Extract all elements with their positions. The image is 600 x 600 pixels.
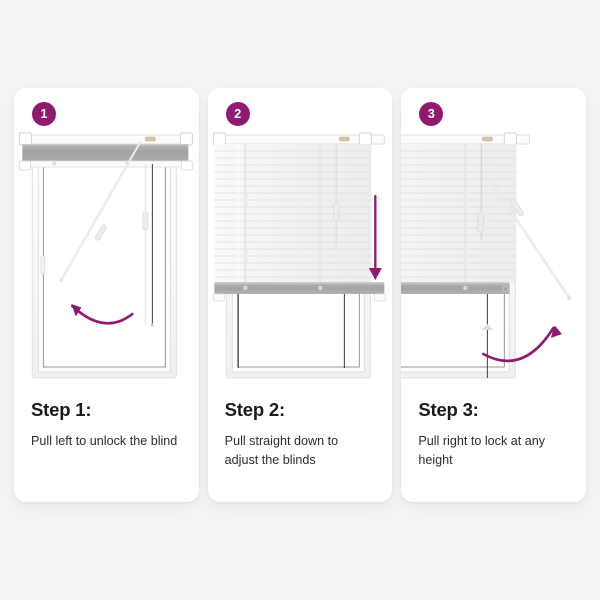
step-title-2: Step 2: (225, 400, 381, 420)
step-title-3: Step 3: (418, 400, 574, 420)
step-card-3[interactable]: 3 (401, 88, 586, 502)
steps-container: 1 (14, 88, 586, 502)
step-description-3: Pull right to lock at any height (418, 432, 568, 469)
illustration-step-1 (14, 128, 199, 388)
window-blind-raised-diagram (14, 128, 199, 388)
caption-step-1: Step 1: Pull left to unlock the blind (31, 400, 187, 451)
step-badge-3: 3 (419, 102, 443, 126)
window-blind-lowered-diagram (208, 128, 393, 388)
step-badge-2: 2 (226, 102, 250, 126)
caption-step-3: Step 3: Pull right to lock at any height (418, 400, 574, 470)
step-description-2: Pull straight down to adjust the blinds (225, 432, 375, 469)
step-badge-1: 1 (32, 102, 56, 126)
window-blind-lock-right-diagram (401, 128, 586, 388)
step-card-2[interactable]: 2 (208, 88, 393, 502)
caption-step-2: Step 2: Pull straight down to adjust the… (225, 400, 381, 470)
instruction-page: 1 (0, 0, 600, 600)
illustration-step-3 (401, 128, 586, 388)
illustration-step-2 (208, 128, 393, 388)
step-title-1: Step 1: (31, 400, 187, 420)
step-card-1[interactable]: 1 (14, 88, 199, 502)
step-description-1: Pull left to unlock the blind (31, 432, 181, 451)
